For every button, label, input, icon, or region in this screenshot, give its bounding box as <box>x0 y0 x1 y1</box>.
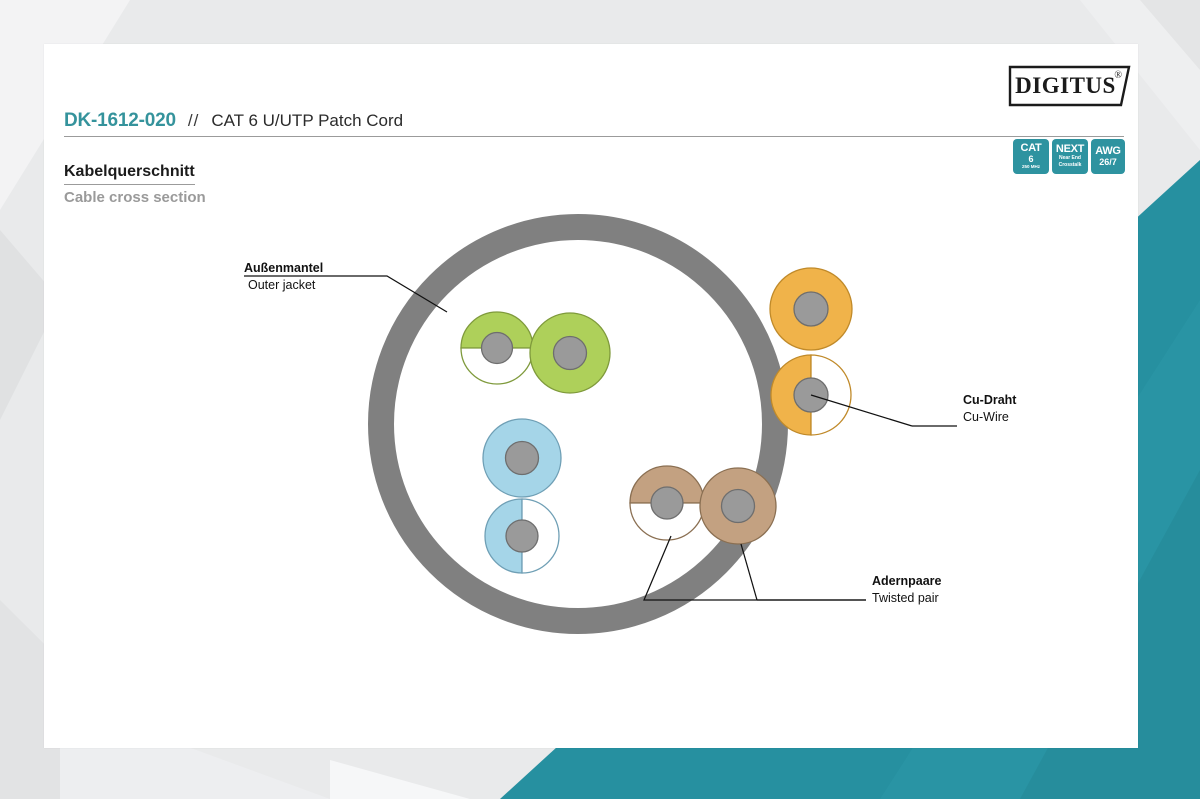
label-twisted-pair-de: Adernpaare <box>872 574 942 588</box>
wire-blue-solid <box>483 419 561 497</box>
wire-pair-brown <box>630 466 776 544</box>
cu-core-green-solid <box>554 337 587 370</box>
wire-pair-green <box>461 312 610 393</box>
label-outer-jacket-en: Outer jacket <box>248 278 316 292</box>
outer-jacket-ring <box>381 227 775 621</box>
label-twisted-pair-en: Twisted pair <box>872 591 939 605</box>
wire-pair-blue <box>483 419 561 573</box>
wire-blue-striped <box>485 499 559 573</box>
cable-cross-section-diagram: Außenmantel Outer jacket Cu-Draht Cu-Wir… <box>44 44 1138 748</box>
cu-core-orange-solid <box>794 292 828 326</box>
label-outer-jacket-de: Außenmantel <box>244 261 323 275</box>
cu-core-blue-striped <box>506 520 538 552</box>
wire-green-solid <box>530 313 610 393</box>
wire-pair-orange <box>770 268 852 435</box>
cu-core-brown-striped <box>651 487 683 519</box>
cu-core-green-striped <box>482 333 513 364</box>
wire-brown-solid <box>700 468 776 544</box>
label-cu-wire-de: Cu-Draht <box>963 393 1017 407</box>
wire-brown-striped <box>630 466 704 540</box>
label-cu-wire-en: Cu-Wire <box>963 410 1009 424</box>
cu-core-brown-solid <box>722 490 755 523</box>
leader-line-twisted-pair-b <box>741 544 757 600</box>
wire-orange-solid <box>770 268 852 350</box>
wire-green-striped <box>461 312 533 384</box>
cu-core-blue-solid <box>506 442 539 475</box>
